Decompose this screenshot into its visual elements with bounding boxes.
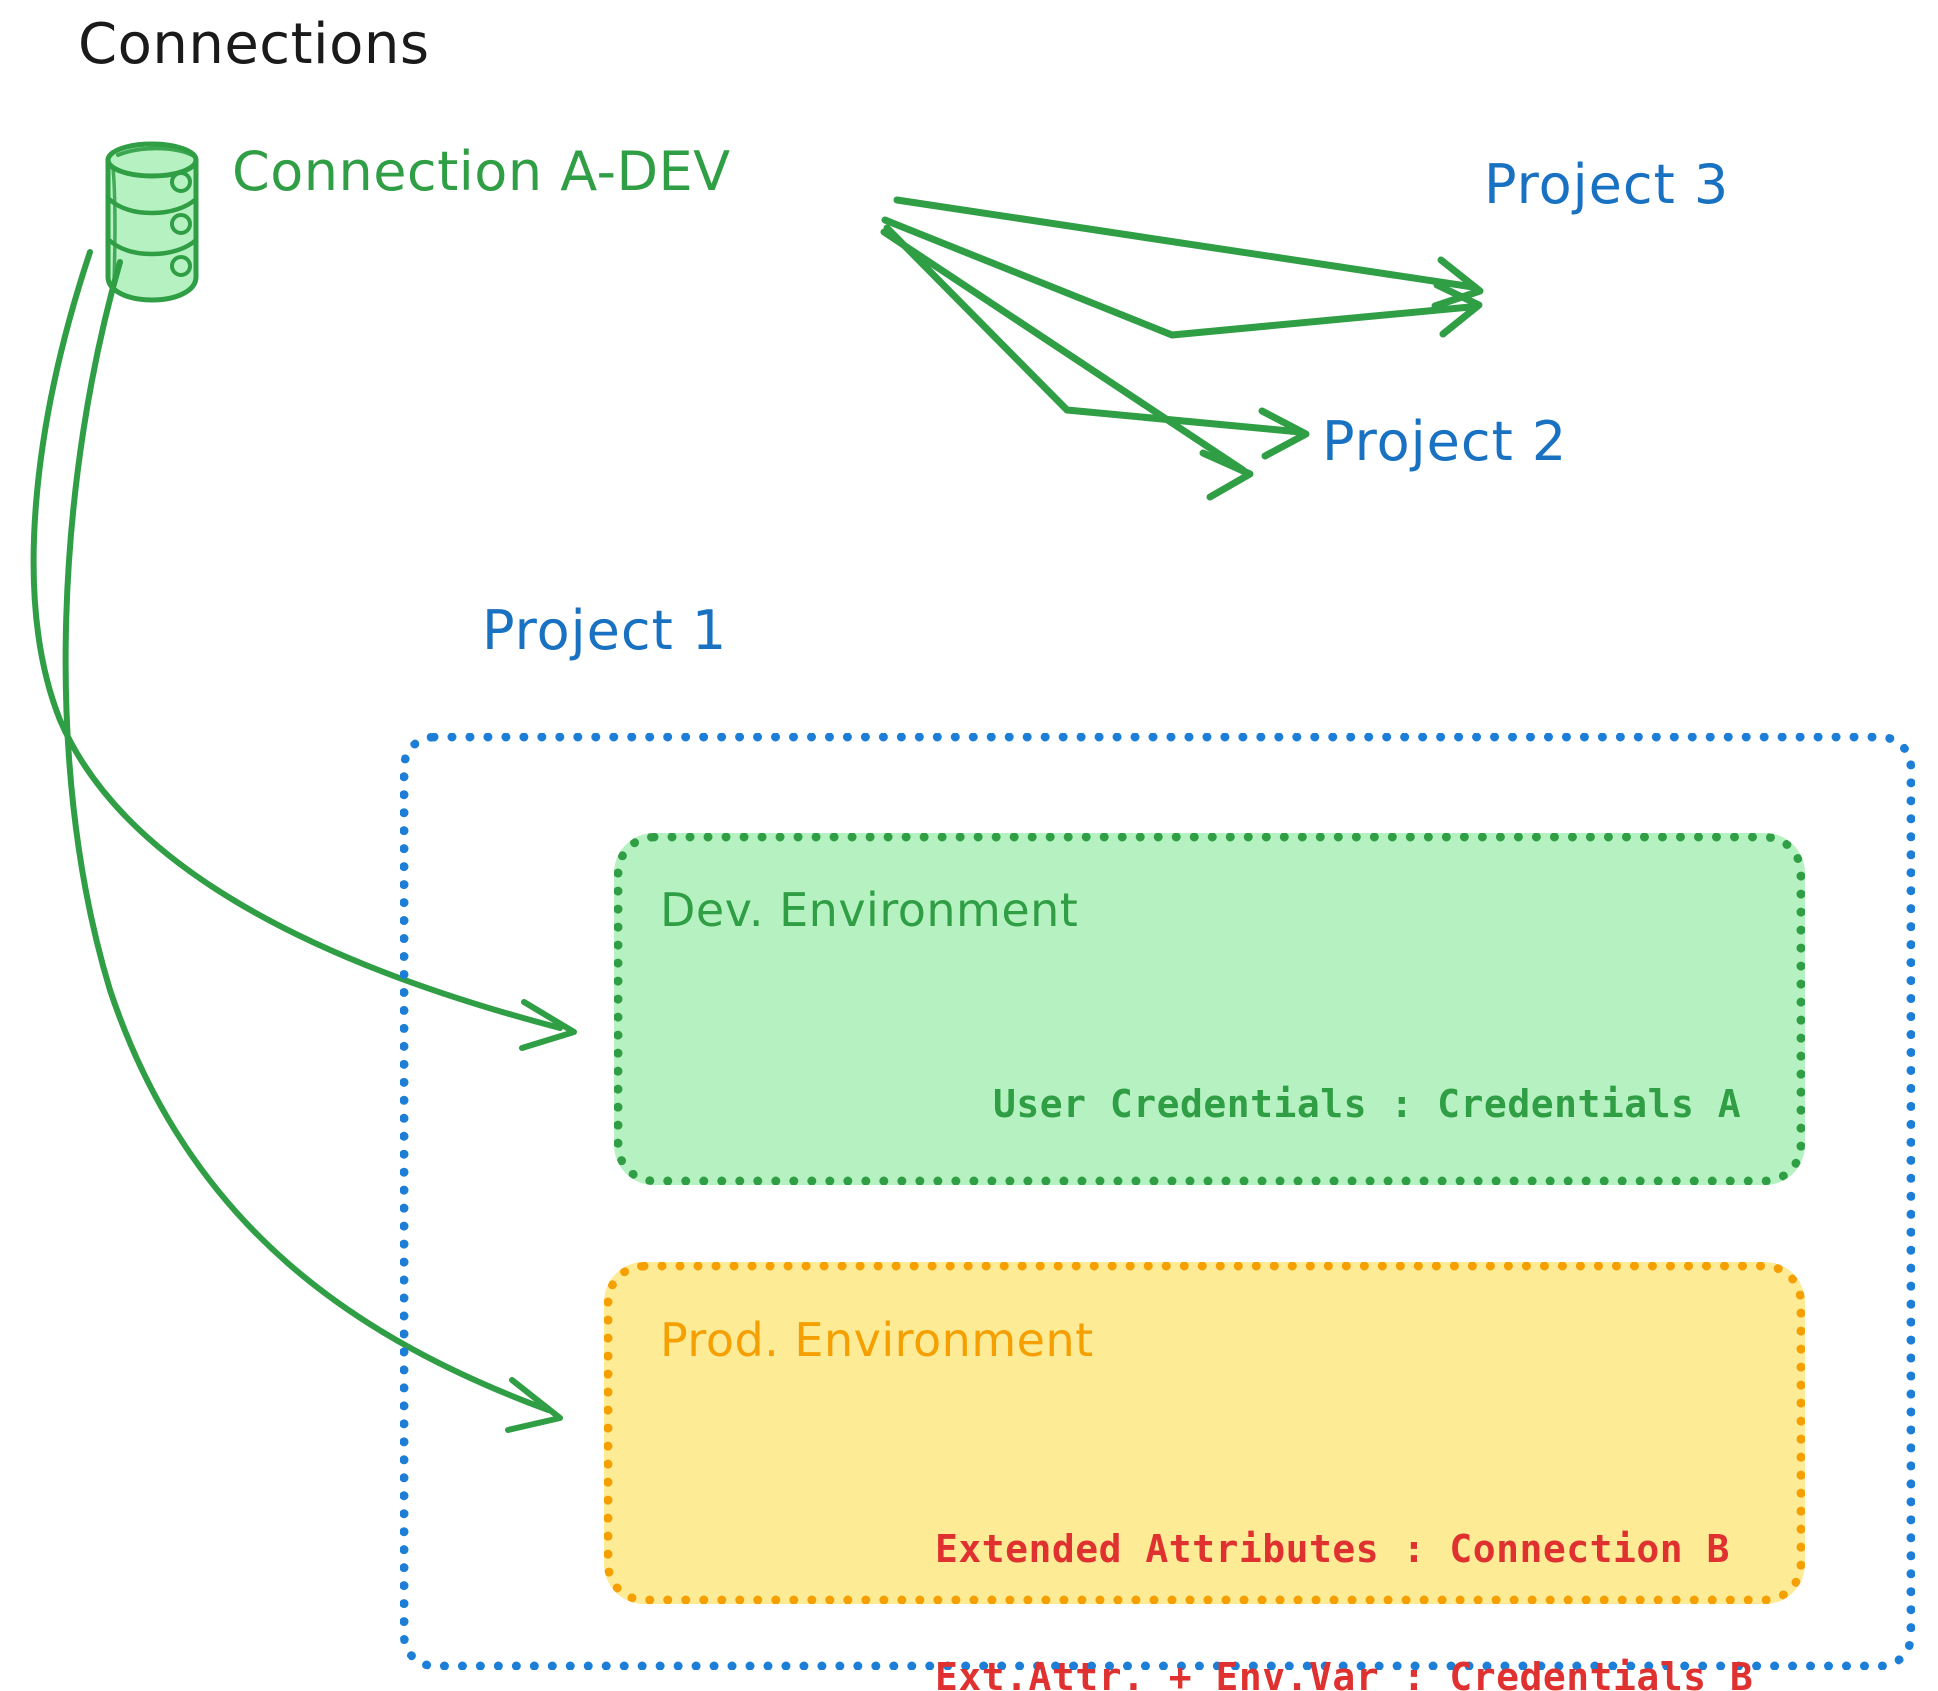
edge-conn-a-dev-to-project-2 [884, 228, 1306, 497]
prod-environment-line-1: Extended Attributes : Connection B [935, 1528, 1753, 1571]
diagram-canvas: Connections Connection A-DEV Project 3 P… [0, 0, 1938, 1691]
prod-environment-title: Prod. Environment [660, 1315, 1094, 1367]
project-1-label: Project 1 [482, 601, 727, 661]
dev-environment-title: Dev. Environment [660, 885, 1078, 937]
project-3-label: Project 3 [1484, 155, 1729, 215]
prod-environment-attribute-lines: Extended Attributes : Connection B Ext.A… [935, 1443, 1753, 1691]
connection-a-dev-label: Connection A-DEV [232, 142, 731, 202]
page-title: Connections [78, 14, 430, 77]
project-2-label: Project 2 [1322, 412, 1567, 472]
database-cylinder-icon [108, 144, 196, 300]
prod-environment-line-2: Ext.Attr. + Env.Var : Credentials B [935, 1656, 1753, 1691]
dev-environment-credentials-line: User Credentials : Credentials A [993, 1083, 1741, 1126]
